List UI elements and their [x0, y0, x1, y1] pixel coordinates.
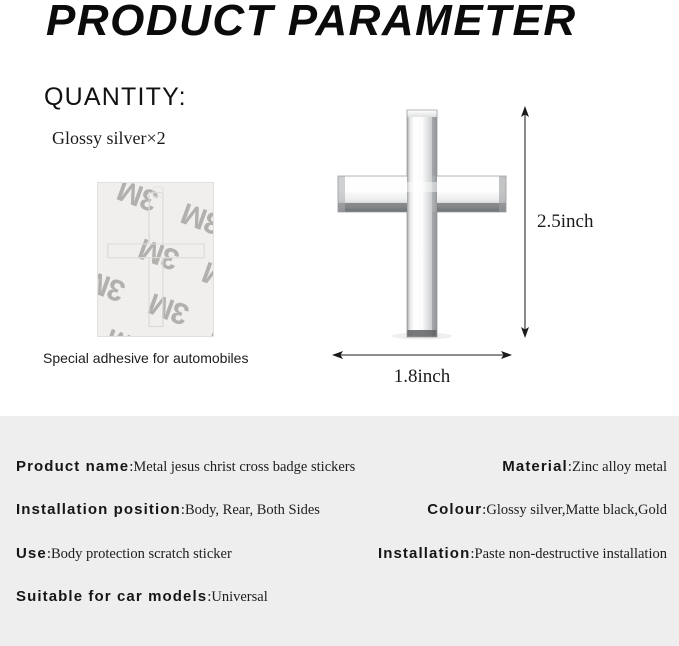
spec-row-material: Material : Zinc alloy metal — [502, 458, 667, 476]
spec-label: Product name — [16, 458, 129, 475]
dimension-height-label: 2.5inch — [537, 211, 593, 233]
spec-value: Glossy silver,Matte black,Gold — [486, 502, 667, 519]
brand-mark-3m: 3M — [167, 182, 214, 188]
cross-badge-svg — [333, 108, 511, 340]
spec-label: Use — [16, 545, 47, 562]
dimension-line-vertical — [515, 106, 535, 338]
spec-value: Metal jesus christ cross badge stickers — [133, 459, 355, 476]
adhesive-caption: Special adhesive for automobiles — [43, 350, 248, 366]
spec-label: Installation position — [16, 501, 181, 518]
brand-mark-3m: 3M — [97, 262, 130, 308]
spec-row-colour: Colour : Glossy silver,Matte black,Gold — [427, 501, 667, 519]
spec-value: Zinc alloy metal — [572, 459, 667, 476]
brand-mark-3m: 3M — [135, 231, 184, 277]
spec-row-use: Use : Body protection scratch sticker — [16, 545, 232, 563]
brand-mark-3m: 3M — [145, 285, 194, 331]
spec-label: Suitable for car models — [16, 588, 207, 605]
brand-mark-3m: 3M — [114, 182, 163, 218]
spec-value: Body, Rear, Both Sides — [185, 502, 320, 519]
adhesive-pad-surface: 3M 3M 3M 3M 3M 3M 3M 3M 3M 3M 3M 3M — [97, 182, 214, 337]
dimension-line-horizontal — [332, 346, 512, 364]
page-title: PRODUCT PARAMETER — [46, 0, 577, 46]
adhesive-brand-pattern: 3M 3M 3M 3M 3M 3M 3M 3M 3M 3M 3M 3M — [97, 182, 214, 337]
spec-value: Body protection scratch sticker — [51, 546, 232, 563]
brand-mark-3m: 3M — [209, 309, 214, 337]
brand-mark-3m: 3M — [178, 195, 214, 241]
specification-panel — [0, 416, 679, 646]
brand-mark-3m: 3M — [102, 321, 151, 337]
adhesive-pad-image: 3M 3M 3M 3M 3M 3M 3M 3M 3M 3M 3M 3M — [97, 182, 214, 337]
brand-mark-3m: 3M — [199, 254, 214, 300]
spec-value: Paste non-destructive installation — [475, 546, 668, 563]
spec-row-product-name: Product name : Metal jesus christ cross … — [16, 458, 355, 476]
spec-row-installation: Installation : Paste non-destructive ins… — [378, 545, 667, 563]
spec-row-installation-position: Installation position : Body, Rear, Both… — [16, 501, 320, 519]
quantity-heading: QUANTITY: — [44, 83, 187, 112]
dimension-width-label: 1.8inch — [332, 366, 512, 388]
spec-label: Material — [502, 458, 568, 475]
spec-label: Colour — [427, 501, 482, 518]
quantity-value: Glossy silver×2 — [52, 128, 166, 149]
spec-row-suitable-for-car-models: Suitable for car models : Universal — [16, 588, 268, 606]
spec-value: Universal — [211, 589, 267, 606]
spec-label: Installation — [378, 545, 470, 562]
cross-badge-image — [333, 108, 511, 340]
